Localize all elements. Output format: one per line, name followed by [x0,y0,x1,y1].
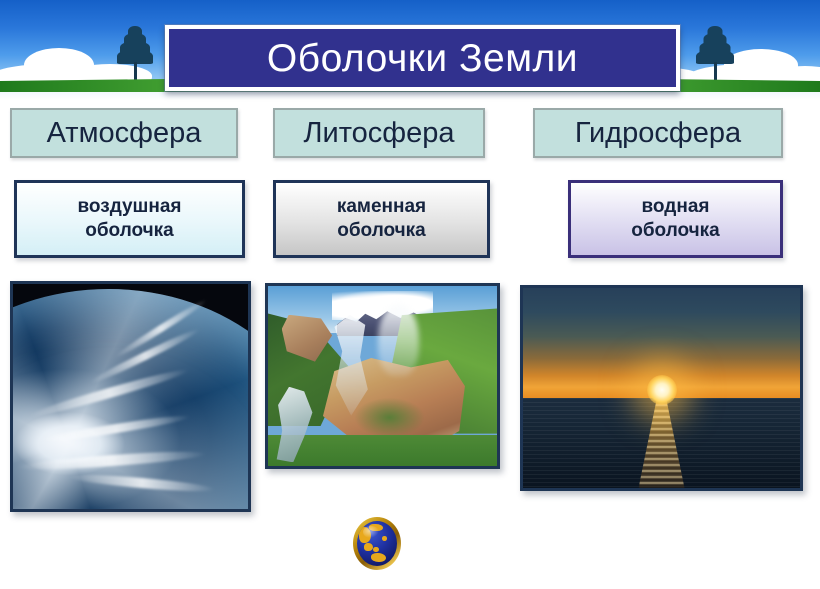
tree-silhouette-right [688,22,742,88]
page-title: Оболочки Земли [165,25,680,91]
heading-label-atmosphere: Атмосфера [47,119,202,148]
description-line2-hydrosphere: оболочка [631,219,720,243]
globe-emblem [353,517,401,570]
description-box-atmosphere: воздушная оболочка [14,180,245,258]
earth-from-space-cyclone-photo [10,281,251,512]
heading-box-lithosphere: Литосфера [273,108,485,158]
description-line1-hydrosphere: водная [642,195,710,219]
description-box-hydrosphere: водная оболочка [568,180,783,258]
slide-canvas: Оболочки Земли Атмосфера Литосфера Гидро… [0,0,820,589]
heading-label-lithosphere: Литосфера [303,119,454,148]
description-line2-lithosphere: оболочка [337,219,426,243]
description-box-lithosphere: каменная оболочка [273,180,490,258]
geyser-valley-rocks-photo [265,283,500,469]
description-line1-atmosphere: воздушная [77,195,181,219]
globe-sphere-icon [357,521,397,566]
heading-box-hydrosphere: Гидросфера [533,108,783,158]
ocean-sunset-photo [520,285,803,491]
tree-silhouette-left [108,22,162,88]
description-line2-atmosphere: оболочка [85,219,174,243]
page-title-text: Оболочки Земли [267,39,578,78]
banner-bottom-fade [0,92,820,100]
heading-label-hydrosphere: Гидросфера [575,119,741,148]
heading-box-atmosphere: Атмосфера [10,108,238,158]
description-line1-lithosphere: каменная [337,195,426,219]
